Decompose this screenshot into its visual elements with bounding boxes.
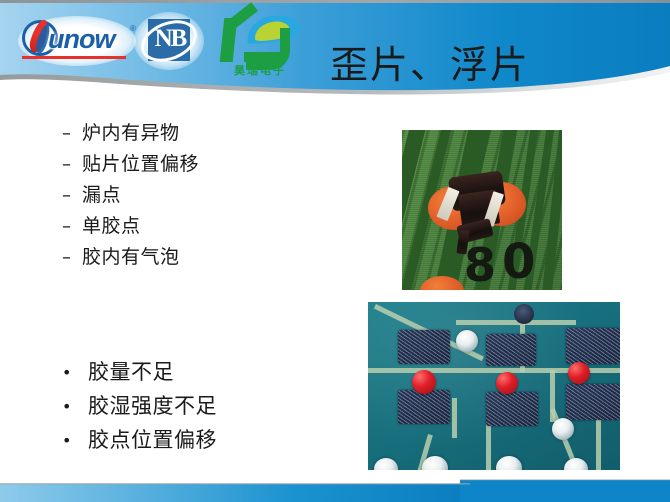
pcb-component-pad — [398, 390, 450, 424]
pcb-glue-dot — [496, 372, 518, 394]
dash-marker-icon: – — [62, 244, 82, 271]
list-item-label: 漏点 — [82, 182, 121, 209]
dash-marker-icon: – — [62, 151, 82, 178]
pcb-solder-eyelet — [456, 330, 478, 352]
green-pcb-photo: 8 0 — [402, 130, 562, 290]
pcb-component-pad — [486, 392, 538, 426]
list-item: – 炉内有异物 — [62, 120, 322, 147]
dash-marker-icon: – — [62, 120, 82, 147]
list-item: – 贴片位置偏移 — [62, 151, 322, 178]
list-item: – 单胶点 — [62, 213, 322, 240]
list-item-label: 炉内有异物 — [82, 120, 180, 147]
list-item-label: 贴片位置偏移 — [82, 151, 199, 178]
list-item-label: 胶内有气泡 — [82, 244, 180, 271]
list-item-label: 胶量不足 — [88, 358, 174, 387]
pcb-solder-eyelet — [564, 458, 588, 470]
pcb-silkscreen-mark: 8 — [464, 242, 496, 288]
pcb-component-pad — [486, 334, 536, 366]
teal-pcb-photo — [368, 302, 620, 470]
pcb-solder-eyelet — [496, 456, 522, 470]
pcb-solder-eyelet — [374, 458, 398, 470]
list-item: • 胶点位置偏移 — [62, 426, 332, 455]
list-item: – 漏点 — [62, 182, 322, 209]
pcb-glue-dot — [568, 362, 590, 384]
dash-marker-icon: – — [62, 213, 82, 240]
list-item-label: 胶湿强度不足 — [88, 392, 217, 421]
list-item-label: 胶点位置偏移 — [88, 426, 217, 455]
page-title: 歪片、浮片 — [330, 34, 620, 89]
list-item: • 胶湿强度不足 — [62, 392, 332, 421]
dash-bullet-list: – 炉内有异物 – 贴片位置偏移 – 漏点 – 单胶点 – 胶内有气泡 — [62, 120, 322, 275]
pcb-solder-eyelet — [422, 456, 448, 470]
pcb-component-pad — [566, 384, 620, 420]
slide-canvas: unow ® NB 昊瑞电子 歪片、浮片 — [0, 0, 670, 502]
dot-marker-icon: • — [62, 426, 88, 455]
pcb-solder-eyelet — [552, 418, 574, 440]
pcb-glue-dot — [412, 370, 436, 394]
pcb-component-pad — [566, 328, 620, 364]
list-item: – 胶内有气泡 — [62, 244, 322, 271]
pcb-component-pad — [398, 330, 450, 364]
dot-marker-icon: • — [62, 358, 88, 387]
pcb-silkscreen-mark: 0 — [502, 238, 535, 286]
footer-shape — [0, 476, 670, 502]
dash-marker-icon: – — [62, 182, 82, 209]
list-item-label: 单胶点 — [82, 213, 141, 240]
dot-bullet-list: • 胶量不足 • 胶湿强度不足 • 胶点位置偏移 — [62, 358, 332, 460]
pcb-solder-eyelet — [514, 304, 534, 324]
list-item: • 胶量不足 — [62, 358, 332, 387]
slide-footer-bar — [0, 476, 670, 502]
pcb-trace — [452, 398, 457, 438]
dot-marker-icon: • — [62, 392, 88, 421]
